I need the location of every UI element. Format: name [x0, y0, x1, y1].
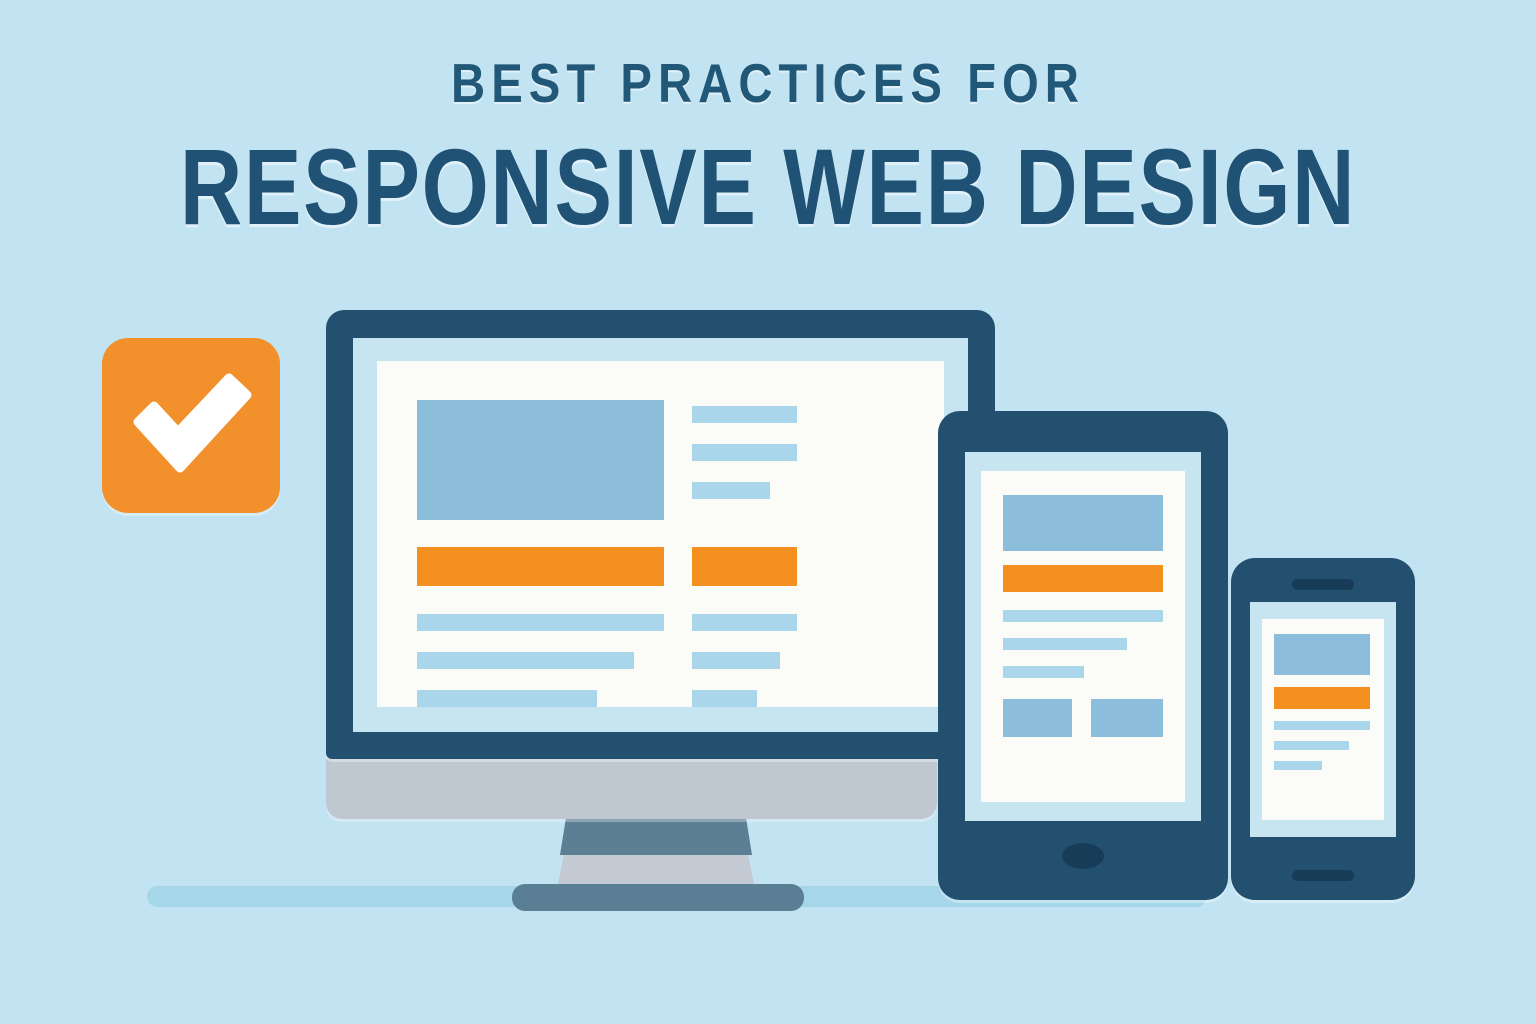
heading-group: BEST PRACTICES FOR RESPONSIVE WEB DESIGN: [0, 56, 1536, 241]
desktop-sidebar-line: [692, 444, 797, 461]
desktop-text-line: [417, 652, 634, 669]
kicker-text: BEST PRACTICES FOR: [108, 56, 1429, 111]
page-title: RESPONSIVE WEB DESIGN: [154, 133, 1383, 241]
tablet-hero-block: [1003, 495, 1163, 551]
monitor-lower-body: [326, 759, 937, 819]
desktop-secondary-bar[interactable]: [692, 547, 797, 586]
phone-bezel: [1250, 602, 1396, 837]
desktop-text-line: [417, 614, 664, 631]
phone-text-line: [1274, 721, 1370, 730]
desktop-sidebar-line: [692, 652, 780, 669]
phone-speaker-icon: [1292, 579, 1354, 590]
monitor-stand-base: [512, 884, 804, 911]
monitor-neck-upper: [560, 819, 752, 855]
desktop-text-line: [417, 690, 597, 707]
desktop-sidebar-line: [692, 690, 757, 707]
tablet-primary-bar[interactable]: [1003, 565, 1163, 592]
phone-screen-page: [1262, 619, 1384, 820]
poster-canvas: BEST PRACTICES FOR RESPONSIVE WEB DESIGN: [0, 0, 1536, 1024]
phone-text-line: [1274, 761, 1322, 770]
desktop-sidebar-line: [692, 406, 797, 423]
checkmark-icon: [102, 338, 280, 513]
tablet-text-line: [1003, 666, 1084, 678]
tablet-card[interactable]: [1091, 699, 1163, 737]
tablet-bezel: [965, 452, 1201, 821]
phone-hero-block: [1274, 634, 1370, 675]
desktop-sidebar-line: [692, 614, 797, 631]
tablet-device[interactable]: [938, 411, 1228, 900]
phone-device[interactable]: [1231, 558, 1415, 900]
tablet-text-line: [1003, 638, 1127, 650]
tablet-text-line: [1003, 610, 1163, 622]
desktop-primary-bar[interactable]: [417, 547, 664, 586]
monitor-bezel: [353, 338, 968, 732]
desktop-hero-block: [417, 400, 664, 520]
tablet-home-button[interactable]: [1062, 843, 1104, 869]
monitor-screen-page: [377, 361, 944, 707]
tablet-card[interactable]: [1003, 699, 1072, 737]
phone-primary-bar[interactable]: [1274, 687, 1370, 709]
checkmark-badge: [102, 338, 280, 513]
phone-home-bar[interactable]: [1292, 870, 1354, 881]
desktop-sidebar-line: [692, 482, 770, 499]
desktop-monitor[interactable]: [326, 310, 995, 759]
phone-text-line: [1274, 741, 1349, 750]
tablet-screen-page: [981, 471, 1185, 802]
